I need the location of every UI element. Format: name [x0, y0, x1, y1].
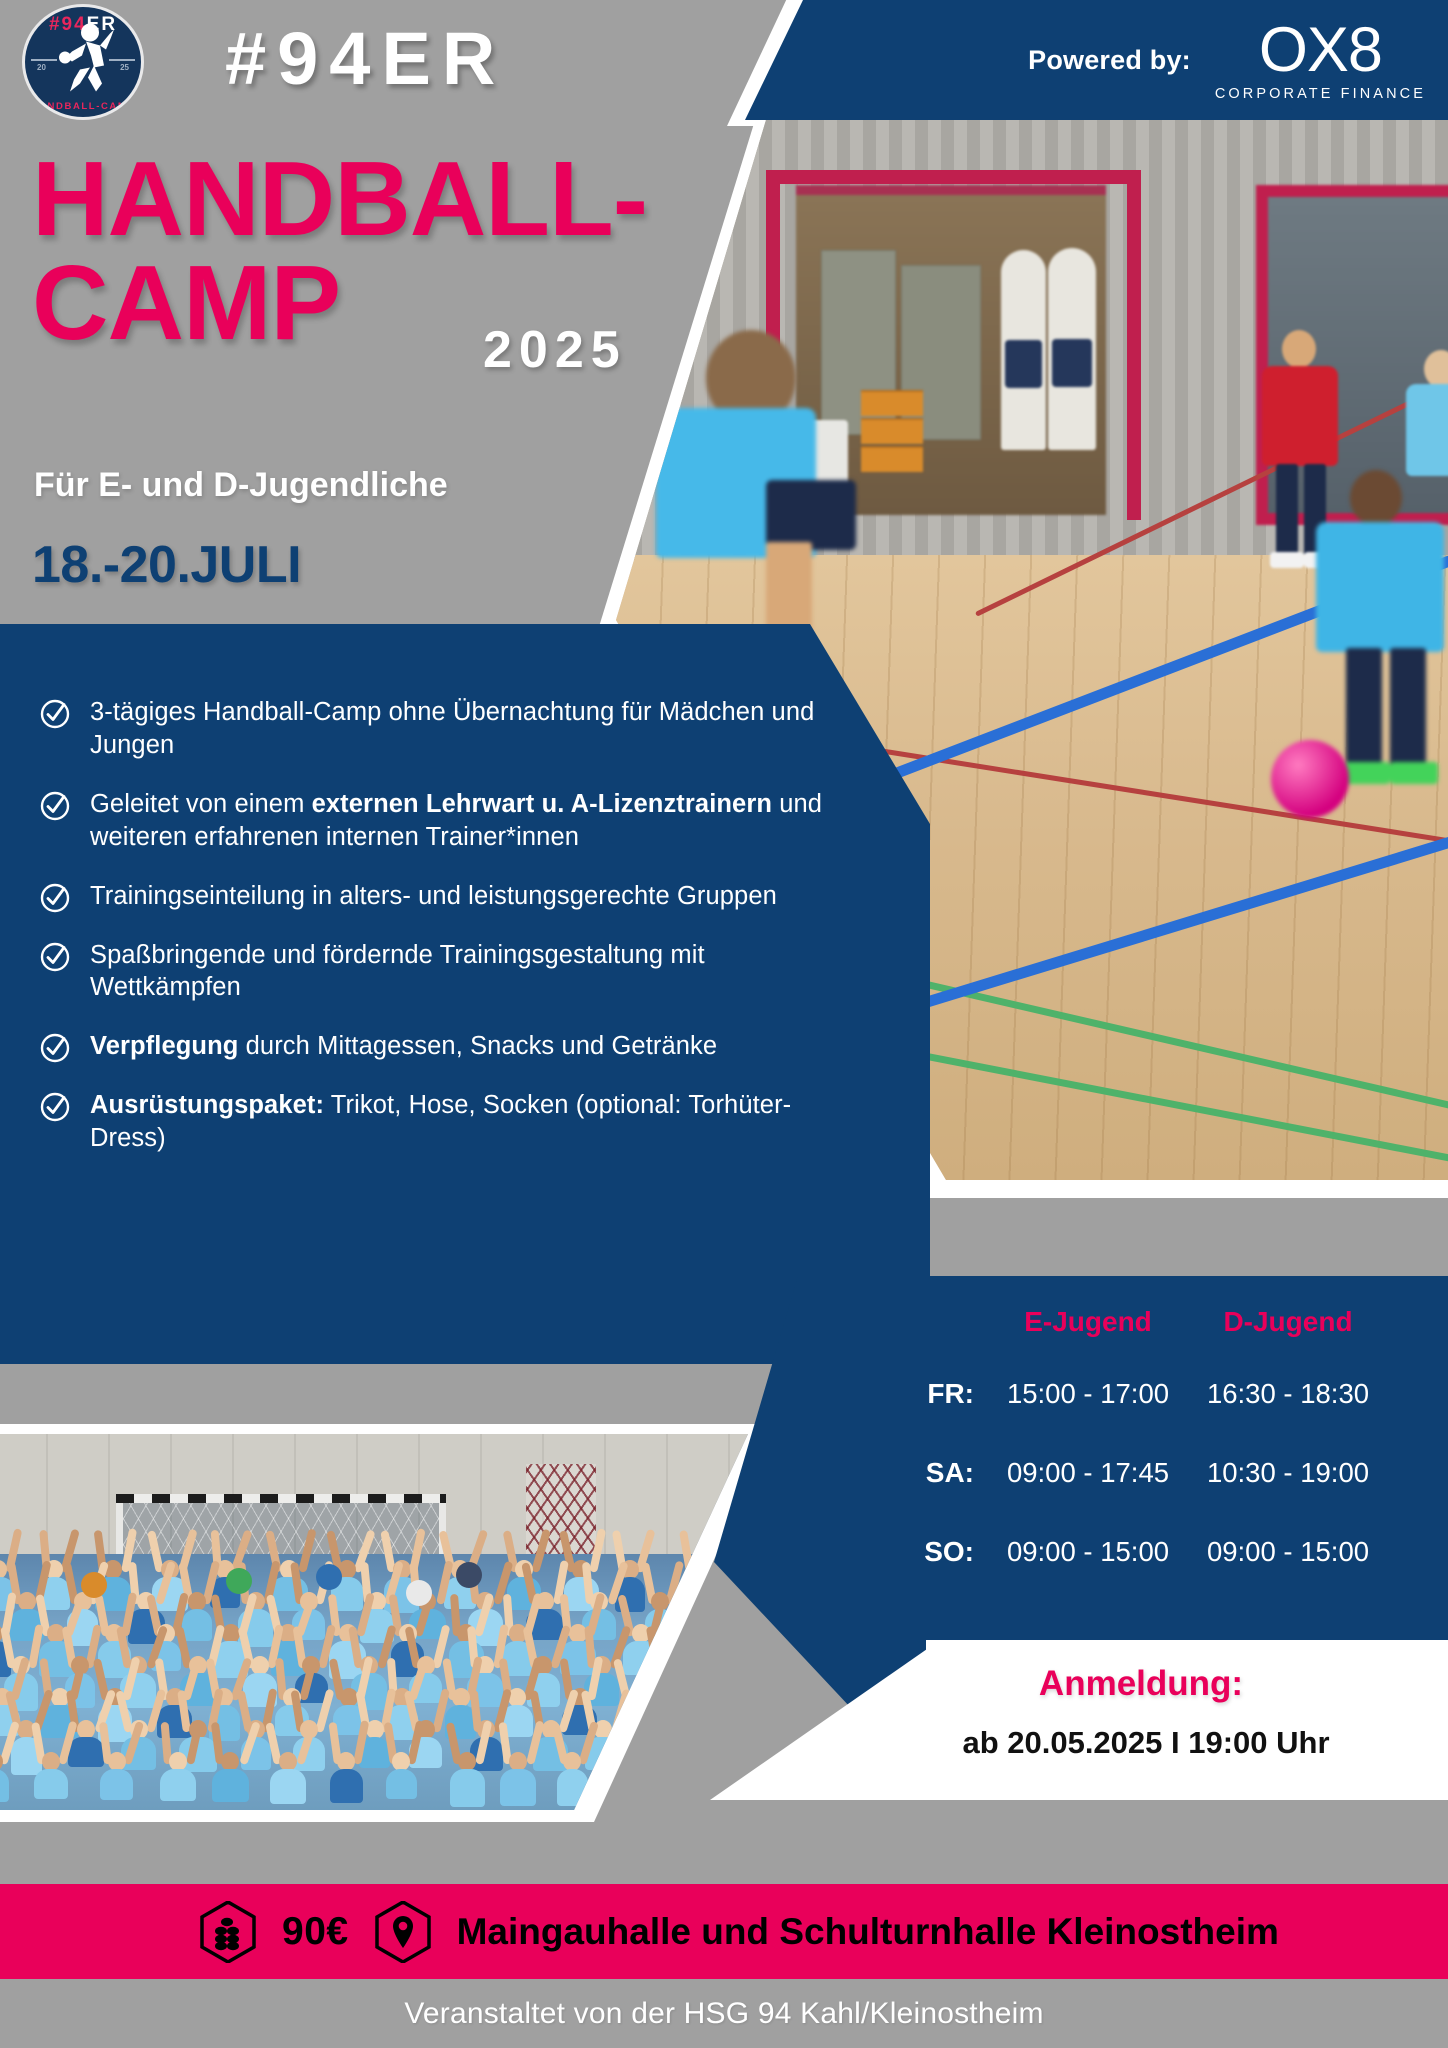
schedule-time-e: 15:00 - 17:00 — [988, 1378, 1188, 1457]
map-pin-icon — [373, 1899, 433, 1965]
year-label: 2025 — [483, 320, 627, 380]
participant-torso — [645, 1737, 682, 1770]
participant-torso — [699, 1673, 735, 1705]
check-circle-icon — [40, 942, 70, 972]
participant-torso — [621, 1769, 651, 1801]
badge-year-right: 25 — [120, 63, 129, 72]
participant-head — [688, 1752, 706, 1771]
handball — [81, 1572, 107, 1598]
participant-torso — [0, 1769, 9, 1802]
schedule-time-e: 09:00 - 15:00 — [988, 1536, 1188, 1615]
participant-torso — [500, 1769, 536, 1806]
participant-torso — [682, 1641, 717, 1672]
raised-arm — [725, 1625, 747, 1669]
participant-head — [680, 1688, 698, 1707]
check-circle-icon — [40, 1092, 70, 1122]
handball-player-icon — [50, 22, 116, 107]
feature-item: Ausrüstungspaket: Trikot, Hose, Socken (… — [40, 1089, 840, 1155]
poster-root: Powered by: OX8 CORPORATE FINANCE #94ER … — [0, 0, 1448, 2048]
date-range-label: 18.-20.JULI — [32, 535, 301, 595]
venue-label: Maingauhalle und Schulturnhalle Kleinost… — [457, 1911, 1279, 1953]
feature-text: Spaßbringende und fördernde Trainingsges… — [90, 939, 840, 1005]
participant-head — [709, 1720, 727, 1739]
handball — [226, 1568, 252, 1594]
participant-torso — [270, 1769, 306, 1804]
raised-arm — [672, 1688, 691, 1733]
club-badge-logo: #94ER 20 25 HANDBALL-CAMP — [22, 4, 144, 120]
crate — [861, 446, 923, 472]
participant-torso — [212, 1769, 249, 1802]
schedule-day-label: SA: — [902, 1457, 988, 1536]
feature-item: Spaßbringende und fördernde Trainingsges… — [40, 939, 840, 1005]
check-circle-icon — [40, 791, 70, 821]
check-circle-icon — [40, 699, 70, 729]
participant-torso — [702, 1609, 734, 1640]
feature-text: Verpflegung durch Mittagessen, Snacks un… — [90, 1030, 717, 1063]
check-circle-icon — [40, 1033, 70, 1063]
handball — [456, 1562, 482, 1588]
raised-arm — [707, 1593, 727, 1637]
gym-mat — [1001, 250, 1046, 450]
feature-item: Verpflegung durch Mittagessen, Snacks un… — [40, 1030, 840, 1063]
schedule-time-e: 09:00 - 17:45 — [988, 1457, 1188, 1536]
schedule-day-label: SO: — [902, 1536, 988, 1615]
participant-torso — [673, 1705, 705, 1743]
info-bar: 90€ Maingauhalle und Schulturnhalle Klei… — [0, 1884, 1448, 1979]
participant-head — [691, 1624, 709, 1643]
feature-text: Trainingseinteilung in alters- und leist… — [90, 880, 777, 913]
group-photo — [0, 1434, 748, 1810]
handball — [316, 1564, 342, 1590]
feature-item: 3-tägiges Handball-Camp ohne Übernachtun… — [40, 696, 840, 762]
participant-head — [708, 1592, 726, 1611]
crate — [861, 390, 923, 416]
price-label: 90€ — [282, 1910, 349, 1954]
raised-arm — [697, 1626, 711, 1669]
schedule-col-header: E-Jugend — [988, 1306, 1188, 1378]
badge-year-left: 20 — [37, 63, 46, 72]
participant-torso — [330, 1769, 363, 1803]
raised-arm — [702, 1720, 719, 1765]
participant-head — [708, 1656, 726, 1675]
raised-arm — [670, 1658, 685, 1701]
sponsor-banner: Powered by: OX8 CORPORATE FINANCE — [745, 0, 1448, 120]
registration-title: Anmeldung: — [926, 1664, 1356, 1704]
schedule-col-header: D-Jugend — [1188, 1306, 1388, 1378]
registration-subtitle: ab 20.05.2025 I 19:00 Uhr — [866, 1725, 1426, 1761]
feature-item: Geleitet von einem externen Lehrwart u. … — [40, 788, 840, 854]
coins-icon — [198, 1899, 258, 1965]
participant-torso — [386, 1769, 417, 1799]
participant-torso — [100, 1769, 133, 1800]
raised-arm — [641, 1720, 658, 1765]
feature-text: Ausrüstungspaket: Trikot, Hose, Socken (… — [90, 1089, 840, 1155]
check-circle-icon — [40, 791, 70, 821]
schedule-corner — [902, 1306, 988, 1378]
features-list: 3-tägiges Handball-Camp ohne Übernachtun… — [40, 696, 840, 1155]
participant-torso — [450, 1769, 485, 1807]
schedule-time-d: 09:00 - 15:00 — [1188, 1536, 1388, 1615]
check-circle-icon — [40, 883, 70, 913]
participant-torso — [34, 1769, 68, 1799]
check-circle-icon — [40, 883, 70, 913]
schedule-time-d: 16:30 - 18:30 — [1188, 1378, 1388, 1457]
powered-by-label: Powered by: — [1028, 45, 1191, 76]
check-circle-icon — [40, 942, 70, 972]
organizer-label: Veranstaltet von der HSG 94 Kahl/Kleinos… — [404, 1997, 1043, 2031]
badge-tick-right — [109, 59, 135, 61]
audience-label: Für E- und D-Jugendliche — [34, 466, 448, 505]
participant-head — [627, 1752, 645, 1771]
features-panel: 3-tägiges Handball-Camp ohne Übernachtun… — [0, 624, 930, 1364]
feature-text: Geleitet von einem externen Lehrwart u. … — [90, 788, 840, 854]
schedule-table: E-JugendD-JugendFR:15:00 - 17:0016:30 - … — [902, 1306, 1432, 1615]
crate — [861, 418, 923, 444]
feature-text: 3-tägiges Handball-Camp ohne Übernachtun… — [90, 696, 840, 762]
participant-head — [654, 1720, 672, 1739]
participant-torso — [160, 1769, 196, 1801]
player-silhouette-icon — [50, 22, 116, 96]
title-line-1: HANDBALL- — [32, 140, 647, 258]
participant-torso — [182, 1609, 212, 1641]
participant-torso — [700, 1737, 736, 1773]
badge-tick-left — [31, 59, 57, 61]
raised-arm — [695, 1657, 715, 1701]
participant-torso — [682, 1769, 712, 1804]
ox8-tagline: CORPORATE FINANCE — [1215, 87, 1426, 102]
gym-mat — [1048, 248, 1096, 450]
footer: Veranstaltet von der HSG 94 Kahl/Kleinos… — [0, 1979, 1448, 2048]
ox8-wordmark: OX8 — [1259, 19, 1382, 82]
badge-bottom-text: HANDBALL-CAMP — [25, 101, 141, 112]
ox8-logo: OX8 CORPORATE FINANCE — [1215, 19, 1426, 102]
feature-item: Trainingseinteilung in alters- und leist… — [40, 880, 840, 913]
hashtag-title: #94ER — [225, 16, 506, 101]
raised-arm — [676, 1722, 694, 1765]
check-circle-icon — [40, 1033, 70, 1063]
schedule-time-d: 10:30 - 19:00 — [1188, 1457, 1388, 1536]
handball — [406, 1580, 432, 1606]
check-circle-icon — [40, 1092, 70, 1122]
raised-arm — [727, 1688, 744, 1733]
handball-pink — [1271, 740, 1349, 818]
raised-arm — [699, 1690, 712, 1733]
schedule-day-label: FR: — [902, 1378, 988, 1457]
check-circle-icon — [40, 699, 70, 729]
participant-torso — [68, 1737, 104, 1767]
